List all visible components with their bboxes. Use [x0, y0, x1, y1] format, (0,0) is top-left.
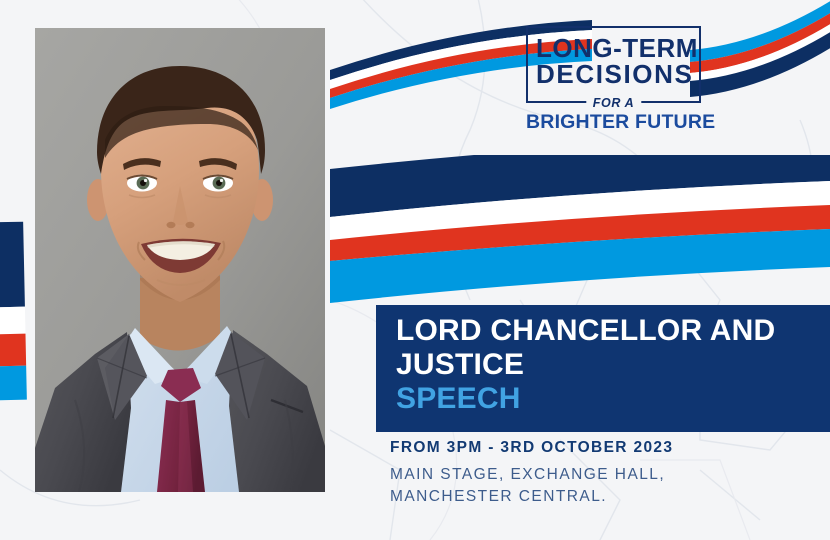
ribbon-stripe-lightblue — [0, 366, 27, 400]
logo-line-long-term: LONG-TERM — [536, 35, 691, 61]
logo-box: LONG-TERM DECISIONS FOR A — [526, 26, 701, 103]
logo-line-brighter-future: BRIGHTER FUTURE — [526, 111, 701, 134]
portrait-photo — [35, 28, 325, 492]
ribbon-stripe-red — [0, 334, 26, 367]
title-line-3-speech: SPEECH — [396, 382, 830, 416]
title-line-1: LORD CHANCELLOR AND — [396, 314, 830, 348]
event-time: FROM 3PM - 3RD OCTOBER 2023 — [390, 440, 673, 456]
event-venue-line-1: MAIN STAGE, EXCHANGE HALL, — [390, 465, 673, 486]
event-venue-line-2: MANCHESTER CENTRAL. — [390, 487, 673, 508]
ribbon-stripe-navy — [0, 222, 25, 308]
title-text-group: LORD CHANCELLOR AND JUSTICE SPEECH — [396, 314, 830, 416]
logo-connector-for-a: FOR A — [586, 96, 641, 110]
event-details: FROM 3PM - 3RD OCTOBER 2023 MAIN STAGE, … — [390, 440, 673, 508]
poster-canvas: LONG-TERM DECISIONS FOR A BRIGHTER FUTUR… — [0, 0, 830, 540]
swoosh-ribbon-top-right — [690, 0, 830, 114]
title-banner: LORD CHANCELLOR AND JUSTICE SPEECH — [376, 305, 830, 432]
logo-line-decisions: DECISIONS — [536, 61, 691, 88]
ribbon-stripe-white — [0, 307, 25, 334]
title-line-2: JUSTICE — [396, 348, 830, 382]
campaign-logo: LONG-TERM DECISIONS FOR A BRIGHTER FUTUR… — [526, 26, 701, 134]
ribbon-left-edge — [0, 222, 27, 401]
main-band-ribbon — [330, 155, 830, 305]
